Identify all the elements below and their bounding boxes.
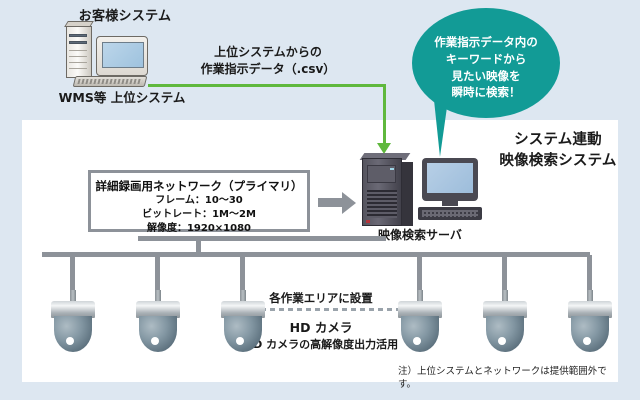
pc-panel-line xyxy=(69,68,87,69)
camera-lens-icon xyxy=(498,337,506,345)
pc-keyboard xyxy=(73,76,148,87)
network-drop-4 xyxy=(417,255,422,293)
camera-3-icon xyxy=(215,290,271,352)
wms-host-system-label: WMS等 上位システム xyxy=(22,90,222,107)
server-vent-grille xyxy=(367,190,397,218)
pc-panel-line xyxy=(69,50,87,51)
camera-2-icon xyxy=(130,290,186,352)
diagram-canvas: お客様システム WMS等 上位システム 上位システムからの 作業指示データ（.c… xyxy=(0,0,640,400)
csv-flow-label: 上位システムからの 作業指示データ（.csv） xyxy=(178,44,358,79)
network-drop-5 xyxy=(502,255,507,293)
page-title-line1: システム連動 xyxy=(492,130,624,151)
network-drop-2 xyxy=(155,255,160,293)
pc-screen xyxy=(102,42,144,68)
camera-lens-icon xyxy=(236,337,244,345)
camera-lens-icon xyxy=(583,337,591,345)
pc-monitor xyxy=(96,36,148,76)
network-drop-6 xyxy=(587,255,592,293)
csv-flow-line-vertical xyxy=(383,84,386,146)
camera-dome xyxy=(139,316,177,352)
callout-line3: 見たい映像を xyxy=(412,68,560,85)
server-monitor-screen xyxy=(427,163,473,193)
callout-line2: キーワードから xyxy=(412,51,560,68)
footnote: 注）上位システムとネットワークは提供範囲外です。 xyxy=(398,366,614,391)
network-to-server-arrow-shaft xyxy=(318,198,344,207)
video-search-server-icon xyxy=(356,152,486,228)
page-title: システム連動 映像検索システム xyxy=(492,130,624,172)
pc-drive-slot xyxy=(69,34,87,37)
server-keyboard xyxy=(418,207,482,220)
page-title-line2: 映像検索システム xyxy=(492,151,624,172)
camera-lens-icon xyxy=(151,337,159,345)
server-power-led-icon xyxy=(366,220,370,223)
network-trunk-bus xyxy=(42,252,590,257)
csv-flow-line-horizontal xyxy=(148,84,386,87)
network-drop-1 xyxy=(70,255,75,293)
network-drop-3 xyxy=(240,255,245,293)
pc-panel-line xyxy=(69,56,87,57)
network-spec-box: 詳細録画用ネットワーク（プライマリ） フレーム：10〜30 ビットレート：1M〜… xyxy=(88,170,310,232)
callout-line4: 瞬時に検索！ xyxy=(412,84,560,101)
server-side xyxy=(401,162,413,226)
server-monitor-stand xyxy=(442,200,458,206)
callout-line1: 作業指示データ内の xyxy=(412,34,560,51)
camera-6-icon xyxy=(562,290,618,352)
camera-dome xyxy=(486,316,524,352)
pc-drive-slot xyxy=(69,41,87,44)
camera-dome xyxy=(401,316,439,352)
pc-panel-line xyxy=(69,62,87,63)
network-spec-title: 詳細録画用ネットワーク（プライマリ） xyxy=(91,178,307,194)
csv-flow-line1: 上位システムからの xyxy=(178,44,358,61)
callout-text: 作業指示データ内の キーワードから 見たい映像を 瞬時に検索！ xyxy=(412,34,560,101)
camera-5-icon xyxy=(477,290,533,352)
network-spec-resolution: 解像度：1920×1080 xyxy=(91,223,307,236)
network-to-server-arrow-icon xyxy=(342,192,356,214)
server-led-icon xyxy=(390,168,394,170)
camera-dome xyxy=(571,316,609,352)
camera-lens-icon xyxy=(413,337,421,345)
network-trunk-upper xyxy=(138,236,386,241)
host-system-pc-icon xyxy=(60,26,180,90)
camera-lens-icon xyxy=(66,337,74,345)
camera-dome xyxy=(54,316,92,352)
camera-dome xyxy=(224,316,262,352)
network-spec-frame: フレーム：10〜30 xyxy=(91,195,307,208)
server-monitor xyxy=(422,158,478,201)
camera-1-icon xyxy=(45,290,101,352)
network-spec-bitrate: ビットレート：1M〜2M xyxy=(91,209,307,222)
camera-4-icon xyxy=(392,290,448,352)
search-feature-callout: 作業指示データ内の キーワードから 見たい映像を 瞬時に検索！ xyxy=(412,8,560,118)
pc-keys xyxy=(77,79,142,84)
server-keyboard-keys xyxy=(422,210,478,217)
csv-flow-line2: 作業指示データ（.csv） xyxy=(178,61,358,78)
